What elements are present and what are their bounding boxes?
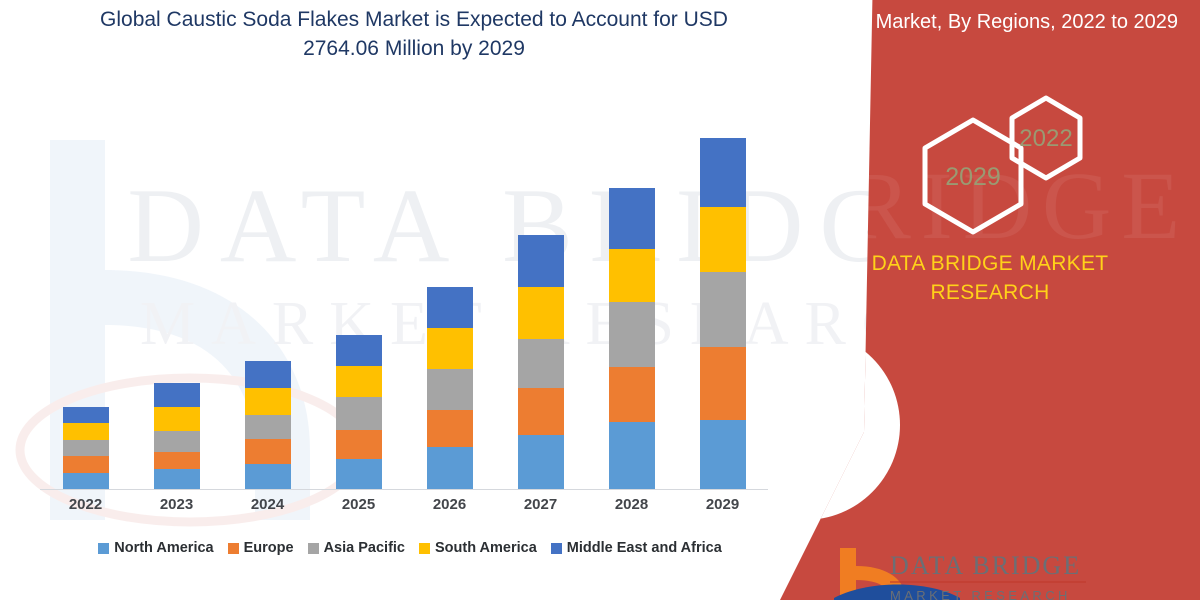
hexagon-small-label: 2022 (1019, 125, 1072, 152)
bar-column-2029 (677, 90, 768, 489)
legend-label: Middle East and Africa (567, 540, 722, 556)
legend-label: Europe (244, 540, 294, 556)
stacked-bar[interactable] (427, 287, 473, 489)
bar-segment-europe[interactable] (518, 388, 564, 435)
stacked-bar[interactable] (63, 407, 109, 489)
chart-plot-area (40, 90, 780, 490)
bar-segment-south-america[interactable] (336, 366, 382, 397)
legend-label: South America (435, 540, 537, 556)
x-axis-label-2022: 2022 (40, 496, 131, 513)
x-axis-label-2028: 2028 (586, 496, 677, 513)
chart-title: Global Caustic Soda Flakes Market is Exp… (64, 6, 764, 64)
legend-swatch-icon (551, 543, 562, 554)
x-axis-line (40, 489, 768, 490)
legend-swatch-icon (419, 543, 430, 554)
bar-segment-asia-pacific[interactable] (700, 272, 746, 347)
bar-segment-europe[interactable] (336, 430, 382, 459)
hexagon-large-2029 (925, 120, 1021, 232)
bar-segment-asia-pacific[interactable] (63, 440, 109, 456)
bar-segment-europe[interactable] (700, 347, 746, 420)
bar-segment-middle-east-and-africa[interactable] (154, 383, 200, 407)
legend-swatch-icon (228, 543, 239, 554)
logo-tagline-text: MARKET RESEARCH (890, 588, 1071, 600)
brand-line-1: DATA BRIDGE MARKET (830, 250, 1150, 279)
stacked-bar[interactable] (245, 361, 291, 489)
bar-segment-middle-east-and-africa[interactable] (245, 361, 291, 388)
bar-segment-asia-pacific[interactable] (245, 415, 291, 439)
bar-segment-north-america[interactable] (518, 435, 564, 489)
x-axis-label-2026: 2026 (404, 496, 495, 513)
bar-segment-europe[interactable] (154, 452, 200, 469)
chart-legend: North AmericaEuropeAsia PacificSouth Ame… (40, 540, 780, 556)
hexagon-large-label: 2029 (945, 163, 1001, 191)
bar-segment-north-america[interactable] (245, 464, 291, 489)
bar-segment-europe[interactable] (427, 410, 473, 447)
x-axis-label-2027: 2027 (495, 496, 586, 513)
logo-name-text: DATA BRIDGE (890, 551, 1081, 580)
bar-segment-north-america[interactable] (63, 473, 109, 489)
bar-segment-europe[interactable] (609, 367, 655, 422)
stacked-bar[interactable] (154, 383, 200, 489)
bar-segment-middle-east-and-africa[interactable] (336, 335, 382, 366)
legend-swatch-icon (98, 543, 109, 554)
bar-column-2027 (495, 90, 586, 489)
bar-column-2022 (40, 90, 131, 489)
bar-column-2023 (131, 90, 222, 489)
bar-segment-north-america[interactable] (609, 422, 655, 489)
legend-item-south-america[interactable]: South America (419, 540, 537, 556)
hexagon-small-2022 (1012, 98, 1080, 178)
stacked-bar[interactable] (518, 235, 564, 489)
legend-swatch-icon (308, 543, 319, 554)
bar-segment-south-america[interactable] (154, 407, 200, 431)
bar-series-container (40, 90, 768, 489)
stacked-bar[interactable] (700, 138, 746, 489)
x-axis-label-2024: 2024 (222, 496, 313, 513)
bar-segment-north-america[interactable] (427, 447, 473, 489)
bar-segment-middle-east-and-africa[interactable] (609, 188, 655, 249)
bar-segment-south-america[interactable] (700, 207, 746, 272)
legend-item-asia-pacific[interactable]: Asia Pacific (308, 540, 405, 556)
panel-watermark: DATA BRIDGE (780, 150, 1190, 261)
bar-segment-middle-east-and-africa[interactable] (427, 287, 473, 328)
bar-segment-asia-pacific[interactable] (154, 431, 200, 452)
bar-column-2028 (586, 90, 677, 489)
bar-segment-middle-east-and-africa[interactable] (518, 235, 564, 287)
bar-column-2024 (222, 90, 313, 489)
bar-segment-south-america[interactable] (609, 249, 655, 302)
bar-segment-north-america[interactable] (336, 459, 382, 489)
bar-segment-middle-east-and-africa[interactable] (63, 407, 109, 423)
legend-item-north-america[interactable]: North America (98, 540, 213, 556)
stacked-bar[interactable] (336, 335, 382, 489)
bar-segment-asia-pacific[interactable] (609, 302, 655, 367)
x-axis-label-2023: 2023 (131, 496, 222, 513)
bar-column-2025 (313, 90, 404, 489)
legend-item-middle-east-and-africa[interactable]: Middle East and Africa (551, 540, 722, 556)
bar-segment-asia-pacific[interactable] (336, 397, 382, 430)
bar-segment-europe[interactable] (245, 439, 291, 464)
infographic-canvas: DATA BRIDGE MARKET RESEARCH Global Caust… (0, 0, 1200, 600)
legend-item-europe[interactable]: Europe (228, 540, 294, 556)
bar-segment-asia-pacific[interactable] (518, 339, 564, 388)
data-bridge-logo: DATA BRIDGE MARKET RESEARCH (828, 540, 1188, 600)
panel-title: Market, By Regions, 2022 to 2029 (858, 8, 1178, 37)
bar-segment-europe[interactable] (63, 456, 109, 473)
x-axis-label-2025: 2025 (313, 496, 404, 513)
bar-segment-south-america[interactable] (427, 328, 473, 369)
bar-segment-north-america[interactable] (154, 469, 200, 489)
bar-segment-north-america[interactable] (700, 420, 746, 489)
bar-segment-middle-east-and-africa[interactable] (700, 138, 746, 207)
legend-label: North America (114, 540, 213, 556)
stacked-bar[interactable] (609, 188, 655, 489)
bar-segment-south-america[interactable] (518, 287, 564, 339)
bar-segment-south-america[interactable] (63, 423, 109, 440)
bar-segment-south-america[interactable] (245, 388, 291, 415)
x-axis-labels: 20222023202420252026202720282029 (40, 496, 768, 513)
bar-column-2026 (404, 90, 495, 489)
brand-line-2: RESEARCH (830, 279, 1150, 308)
bar-segment-asia-pacific[interactable] (427, 369, 473, 410)
right-red-panel: DATA BRIDGE Market, By Regions, 2022 to … (780, 0, 1200, 600)
logo-divider (890, 581, 1086, 583)
legend-label: Asia Pacific (324, 540, 405, 556)
brand-name: DATA BRIDGE MARKET RESEARCH (830, 250, 1150, 308)
x-axis-label-2029: 2029 (677, 496, 768, 513)
